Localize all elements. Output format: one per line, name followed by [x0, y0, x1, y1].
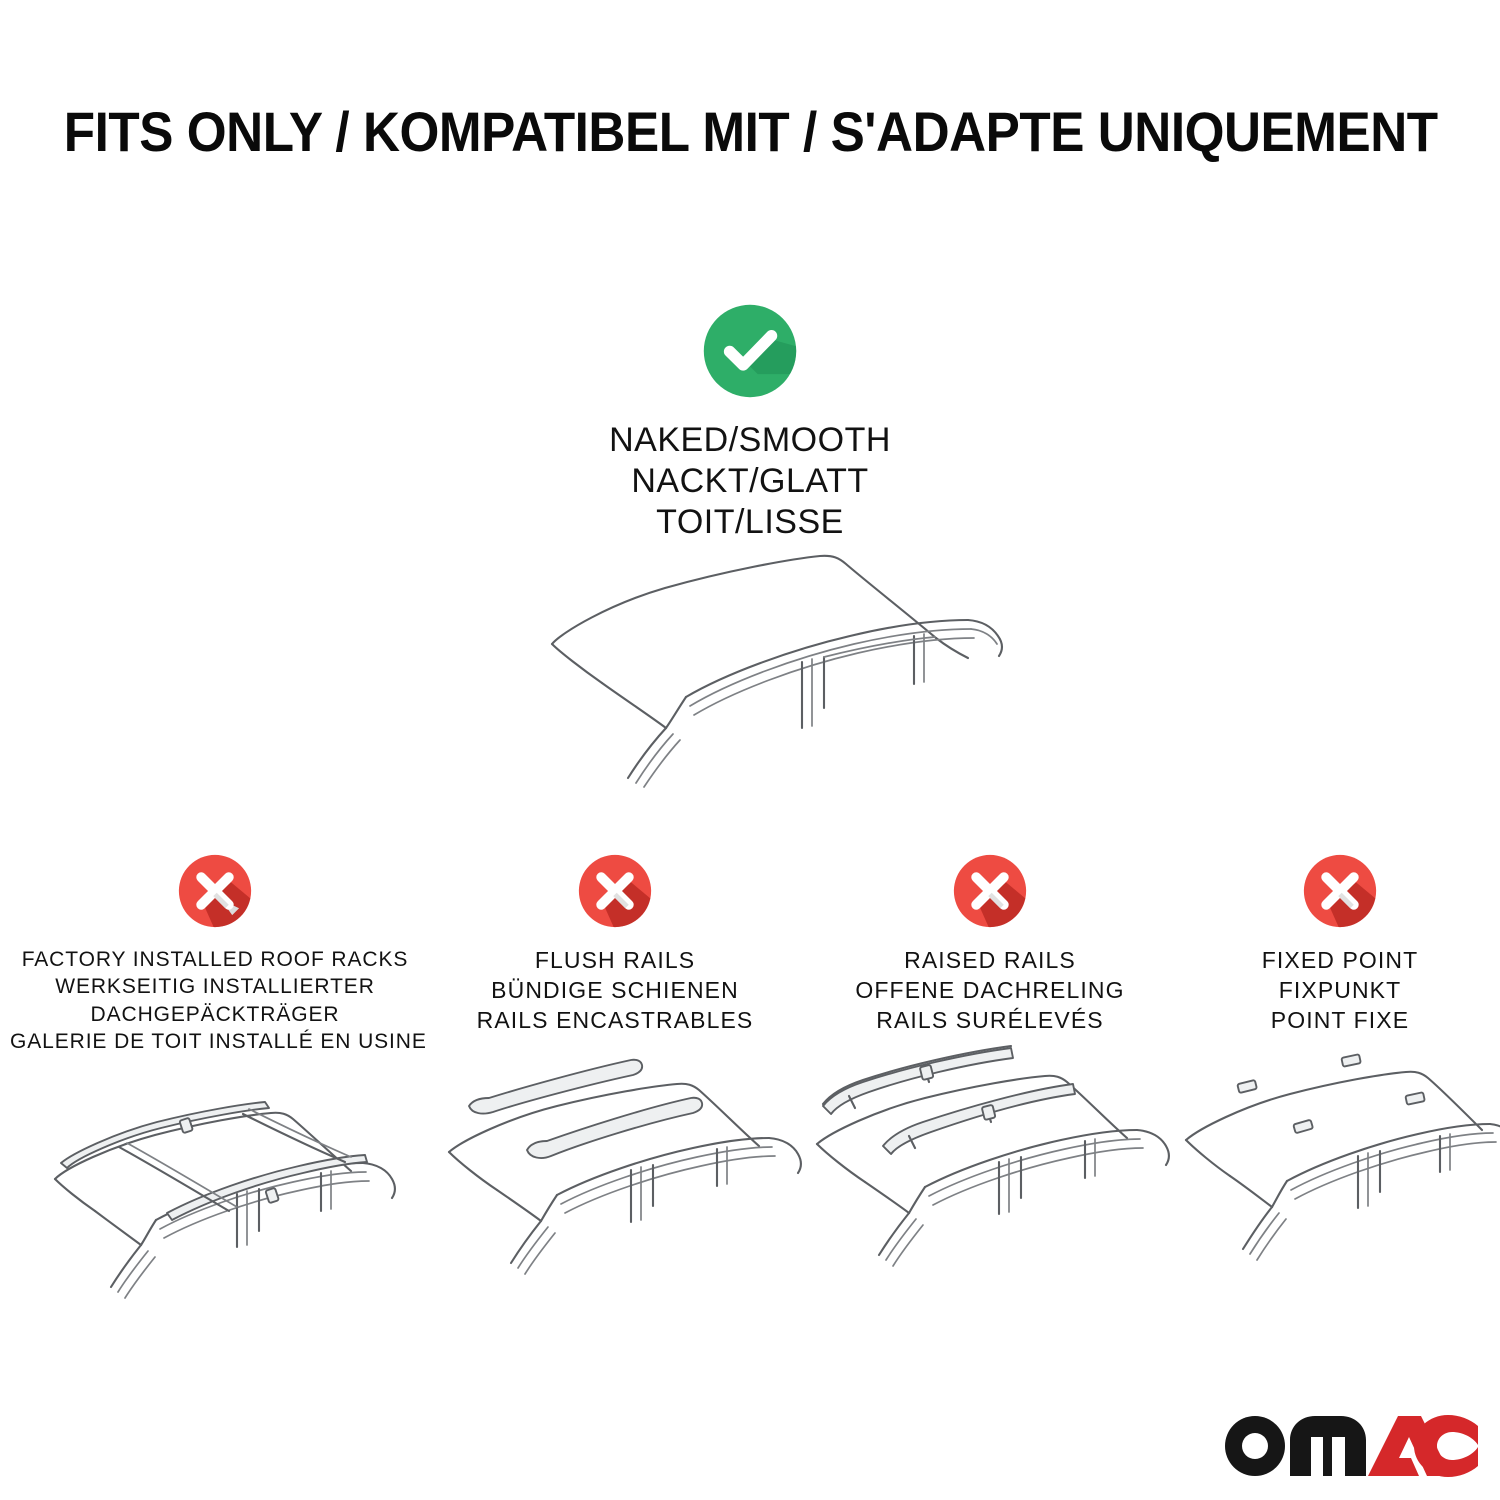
bare-car-roof-illustration	[490, 516, 1030, 806]
bare-roof-drawing	[490, 516, 1030, 806]
roof-with-raised-rails-illustration	[805, 1044, 1205, 1284]
page-title: FITS ONLY / KOMPATIBEL MIT / S'ADAPTE UN…	[0, 104, 1500, 160]
omac-logo	[1218, 1404, 1478, 1480]
incompatible-2-line-3: RAILS ENCASTRABLES	[425, 1006, 805, 1036]
incompatible-1-line-4: GALERIE DE TOIT INSTALLÉ EN USINE	[10, 1028, 420, 1055]
incompatible-3-line-2: OFFENE DACHRELING	[805, 976, 1175, 1006]
roof-with-flush-rails-illustration	[425, 1044, 825, 1284]
logo-letter-m	[1290, 1416, 1366, 1476]
incompatible-item-fixed-point: FIXED POINT FIXPUNKT POINT FIXE	[1180, 848, 1500, 1284]
omac-logo-mark	[1218, 1404, 1478, 1480]
cross-circle-icon	[572, 848, 658, 934]
incompatible-1-line-1: FACTORY INSTALLED ROOF RACKS	[10, 946, 420, 973]
roof-with-factory-rack-illustration	[15, 1063, 415, 1303]
check-circle-icon	[695, 296, 805, 406]
incompatible-3-line-3: RAILS SURÉLEVÉS	[805, 1006, 1175, 1036]
compatible-line-2: NACKT/GLATT	[0, 461, 1500, 502]
logo-letter-o	[1225, 1416, 1285, 1476]
cross-circle-icon	[947, 848, 1033, 934]
compatible-section: NAKED/SMOOTH NACKT/GLATT TOIT/LISSE	[0, 296, 1500, 542]
incompatible-caption-2: FLUSH RAILS BÜNDIGE SCHIENEN RAILS ENCAS…	[425, 946, 805, 1036]
cross-circle-icon	[172, 848, 258, 934]
incompatible-caption-4: FIXED POINT FIXPUNKT POINT FIXE	[1180, 946, 1500, 1036]
raised-rails-drawing	[805, 1044, 1205, 1284]
incompatible-caption-3: RAISED RAILS OFFENE DACHRELING RAILS SUR…	[805, 946, 1175, 1036]
cross-circle-icon	[1297, 848, 1383, 934]
factory-rack-drawing	[15, 1063, 415, 1303]
incompatible-item-raised-rails: RAISED RAILS OFFENE DACHRELING RAILS SUR…	[805, 848, 1175, 1284]
incompatible-1-line-3: DACHGEPÄCKTRÄGER	[10, 1001, 420, 1028]
incompatible-4-line-3: POINT FIXE	[1180, 1006, 1500, 1036]
incompatible-1-line-2: WERKSEITIG INSTALLIERTER	[10, 973, 420, 1000]
fixed-points-drawing	[1180, 1044, 1500, 1284]
incompatible-item-factory-rack: FACTORY INSTALLED ROOF RACKS WERKSEITIG …	[10, 848, 420, 1303]
incompatible-2-line-1: FLUSH RAILS	[425, 946, 805, 976]
incompatible-section: FACTORY INSTALLED ROOF RACKS WERKSEITIG …	[0, 848, 1500, 1468]
roof-with-fixed-points-illustration	[1180, 1044, 1500, 1284]
incompatible-3-line-1: RAISED RAILS	[805, 946, 1175, 976]
incompatible-item-flush-rails: FLUSH RAILS BÜNDIGE SCHIENEN RAILS ENCAS…	[425, 848, 805, 1284]
incompatible-4-line-1: FIXED POINT	[1180, 946, 1500, 976]
page-title-text: FITS ONLY / KOMPATIBEL MIT / S'ADAPTE UN…	[64, 104, 1438, 160]
incompatible-4-line-2: FIXPUNKT	[1180, 976, 1500, 1006]
incompatible-2-line-2: BÜNDIGE SCHIENEN	[425, 976, 805, 1006]
incompatible-caption-1: FACTORY INSTALLED ROOF RACKS WERKSEITIG …	[10, 946, 420, 1055]
compatible-line-1: NAKED/SMOOTH	[0, 420, 1500, 461]
flush-rails-drawing	[425, 1044, 825, 1284]
